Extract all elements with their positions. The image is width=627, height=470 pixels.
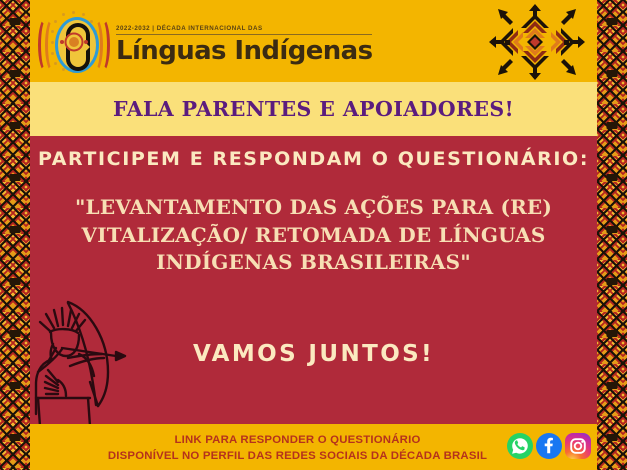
headline-band: FALA PARENTES E APOIADORES! xyxy=(30,82,597,136)
left-border-pattern xyxy=(0,0,30,470)
questionnaire-title: "LEVANTAMENTO DAS AÇÕES PARA (RE) VITALI… xyxy=(64,194,563,277)
body-panel: PARTICIPEM E RESPONDAM O QUESTIONÁRIO: "… xyxy=(30,136,597,424)
whatsapp-icon[interactable] xyxy=(507,433,533,459)
footer-line-1: LINK PARA RESPONDER O QUESTIONÁRIO xyxy=(90,432,505,448)
subheadline-text: PARTICIPEM E RESPONDAM O QUESTIONÁRIO: xyxy=(30,148,597,170)
right-border-pattern xyxy=(597,0,627,470)
questionnaire-title-line-3: INDÍGENAS BRASILEIRAS" xyxy=(64,249,563,277)
facebook-icon[interactable] xyxy=(536,433,562,459)
indigenous-languages-emblem-icon xyxy=(38,6,110,78)
instagram-icon[interactable] xyxy=(565,433,591,459)
poster-canvas: 2022-2032 | DÉCADA INTERNACIONAL DAS Lín… xyxy=(0,0,627,470)
logo-kicker: 2022-2032 | DÉCADA INTERNACIONAL DAS xyxy=(116,25,372,35)
logo-title: Línguas Indígenas xyxy=(116,38,372,64)
indigenous-archer-icon xyxy=(30,286,132,424)
footer-line-2: DISPONÍVEL NO PERFIL DAS REDES SOCIAIS D… xyxy=(90,448,505,464)
indigenous-star-motif-icon xyxy=(489,4,585,80)
header-band: 2022-2032 | DÉCADA INTERNACIONAL DAS Lín… xyxy=(30,0,597,82)
questionnaire-title-line-2: VITALIZAÇÃO/ RETOMADA DE LÍNGUAS xyxy=(64,222,563,250)
questionnaire-title-line-1: "LEVANTAMENTO DAS AÇÕES PARA (RE) xyxy=(64,194,563,222)
social-links xyxy=(507,433,591,459)
footer-band: LINK PARA RESPONDER O QUESTIONÁRIO DISPO… xyxy=(30,424,597,470)
footer-note: LINK PARA RESPONDER O QUESTIONÁRIO DISPO… xyxy=(90,432,505,464)
decade-logo: 2022-2032 | DÉCADA INTERNACIONAL DAS Lín… xyxy=(38,6,372,78)
headline-text: FALA PARENTES E APOIADORES! xyxy=(113,97,514,121)
